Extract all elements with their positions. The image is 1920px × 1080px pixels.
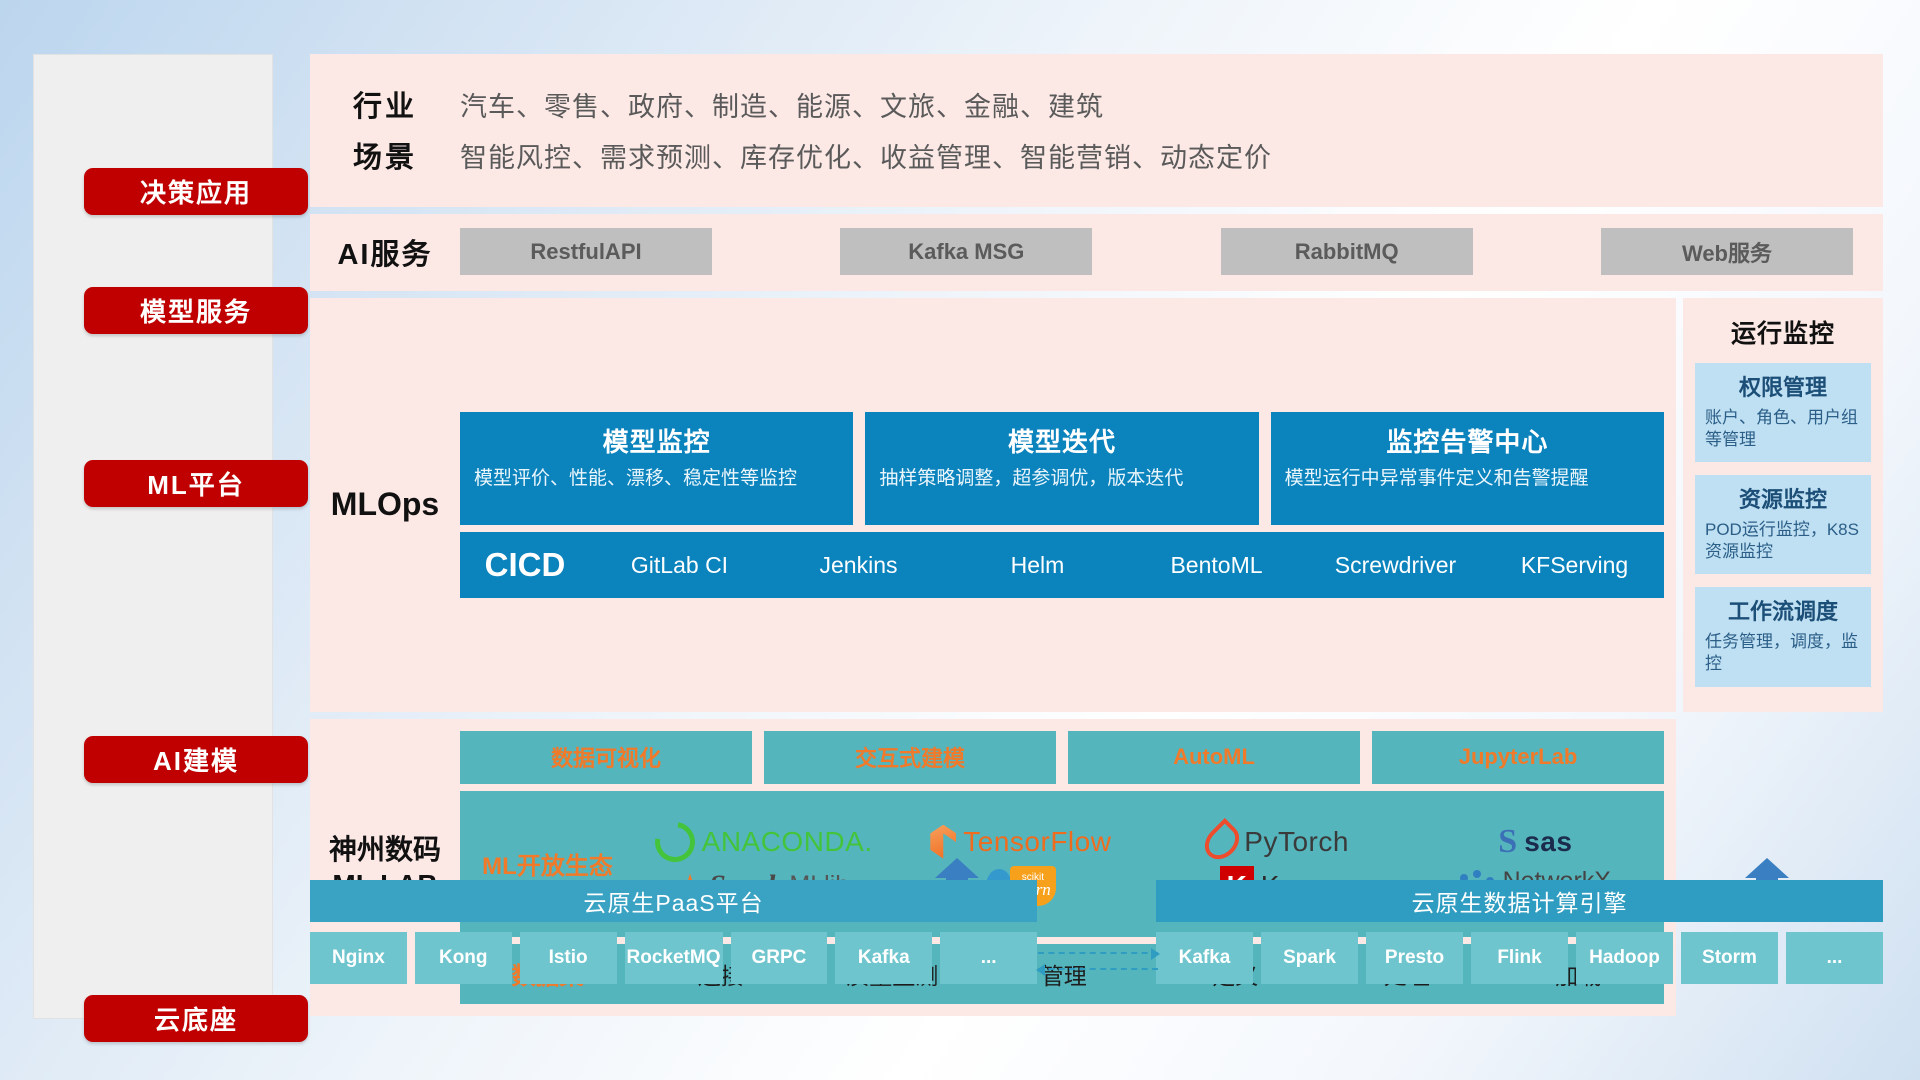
scenario-key: 场景 xyxy=(310,134,460,176)
cloud-chip-more-right[interactable]: ... xyxy=(1786,932,1883,984)
tensorflow-logo: TensorFlow xyxy=(930,825,1111,859)
mlops-card-desc: 抽样策略调整，超参调优，版本迭代 xyxy=(879,467,1244,491)
anaconda-ring-icon xyxy=(647,814,703,870)
monitor-card-desc: POD运行监控，K8S资源监控 xyxy=(1705,519,1861,563)
cicd-tool-kfserving[interactable]: KFServing xyxy=(1485,548,1664,582)
mlops-key: MLOps xyxy=(310,486,460,523)
ai-service-chip-restfulapi[interactable]: RestfulAPI xyxy=(460,228,712,275)
ml-lab-key-line1: 神州数码 xyxy=(310,832,460,867)
rail-item-cloud-base[interactable]: 云底座 xyxy=(84,995,308,1042)
rail-label: 决策应用 xyxy=(140,173,252,210)
mlops-card-model-iteration[interactable]: 模型迭代 抽样策略调整，超参调优，版本迭代 xyxy=(865,412,1258,525)
mlops-row: MLOps 模型监控 模型评价、性能、漂移、稳定性等监控 模型迭代 抽样策略调整… xyxy=(310,298,1883,712)
architecture-diagram: 决策应用 模型服务 ML平台 AI建模 云底座 行业 汽车、零售、政府、制造、能… xyxy=(0,0,1920,1080)
cicd-bar: CICD GitLab CI Jenkins Helm BentoML Scre… xyxy=(460,532,1664,598)
mlops-content: 模型监控 模型评价、性能、漂移、稳定性等监控 模型迭代 抽样策略调整，超参调优，… xyxy=(460,412,1676,598)
sas-label: sas xyxy=(1524,826,1572,858)
scenario-line: 场景 智能风控、需求预测、库存优化、收益管理、智能营销、动态定价 xyxy=(310,134,1883,176)
ml-lab-tab-data-visualization[interactable]: 数据可视化 xyxy=(460,731,752,784)
mlops-card-title: 模型迭代 xyxy=(879,422,1244,459)
cloud-data-engine-chip-list: Kafka Spark Presto Flink Hadoop Storm ..… xyxy=(1156,932,1883,984)
ai-service-chip-web[interactable]: Web服务 xyxy=(1601,228,1853,275)
dashed-arrow-right xyxy=(1038,952,1158,954)
cicd-title: CICD xyxy=(460,546,590,584)
monitor-card-title: 资源监控 xyxy=(1705,482,1861,514)
main-column: 行业 汽车、零售、政府、制造、能源、文旅、金融、建筑 场景 智能风控、需求预测、… xyxy=(310,54,1883,1016)
cloud-right-group: 云原生数据计算引擎 Kafka Spark Presto Flink Hadoo… xyxy=(1156,880,1883,984)
cloud-chip-storm[interactable]: Storm xyxy=(1681,932,1778,984)
cicd-tool-list: GitLab CI Jenkins Helm BentoML Screwdriv… xyxy=(590,548,1664,582)
cicd-tool-bentoml[interactable]: BentoML xyxy=(1127,548,1306,582)
cicd-tool-gitlab-ci[interactable]: GitLab CI xyxy=(590,548,769,582)
cicd-tool-helm[interactable]: Helm xyxy=(948,548,1127,582)
left-rail: 决策应用 模型服务 ML平台 AI建模 云底座 xyxy=(33,54,273,1019)
rail-label: 云底座 xyxy=(154,1000,238,1037)
cloud-paas-title: 云原生PaaS平台 xyxy=(310,880,1037,922)
mlops-card-model-monitor[interactable]: 模型监控 模型评价、性能、漂移、稳定性等监控 xyxy=(460,412,853,525)
cloud-link-arrows xyxy=(1038,938,1158,984)
monitor-card-desc: 账户、角色、用户组等管理 xyxy=(1705,407,1861,451)
rail-label: AI建模 xyxy=(153,741,239,778)
ml-ecosystem-label: ML开放生态 xyxy=(460,846,635,881)
mlops-card-desc: 模型评价、性能、漂移、稳定性等监控 xyxy=(474,467,839,491)
cloud-chip-rocketmq[interactable]: RocketMQ xyxy=(625,932,723,984)
runtime-monitor-title: 运行监控 xyxy=(1695,314,1871,350)
mlops-card-desc: 模型运行中异常事件定义和告警提醒 xyxy=(1285,467,1650,491)
cicd-tool-screwdriver[interactable]: Screwdriver xyxy=(1306,548,1485,582)
cloud-chip-hadoop[interactable]: Hadoop xyxy=(1576,932,1673,984)
mlops-card-title: 监控告警中心 xyxy=(1285,422,1650,459)
cloud-chip-nginx[interactable]: Nginx xyxy=(310,932,407,984)
rail-item-model-service[interactable]: 模型服务 xyxy=(84,287,308,334)
ai-service-chip-list: RestfulAPI Kafka MSG RabbitMQ Web服务 xyxy=(460,228,1883,275)
monitor-card-resource[interactable]: 资源监控 POD运行监控，K8S资源监控 xyxy=(1695,475,1871,574)
anaconda-label: ANACONDA. xyxy=(702,826,873,858)
mlops-card-alert-center[interactable]: 监控告警中心 模型运行中异常事件定义和告警提醒 xyxy=(1271,412,1664,525)
cloud-left-group: 云原生PaaS平台 Nginx Kong Istio RocketMQ GRPC… xyxy=(310,880,1037,984)
rail-item-decision-app[interactable]: 决策应用 xyxy=(84,168,308,215)
runtime-monitor-column: 运行监控 权限管理 账户、角色、用户组等管理 资源监控 POD运行监控，K8S资… xyxy=(1683,298,1883,712)
cloud-data-engine-title: 云原生数据计算引擎 xyxy=(1156,880,1883,922)
ai-service-key: AI服务 xyxy=(310,231,460,273)
rail-item-ai-modeling[interactable]: AI建模 xyxy=(84,736,308,783)
industry-line: 行业 汽车、零售、政府、制造、能源、文旅、金融、建筑 xyxy=(310,83,1883,125)
mlops-card-title: 模型监控 xyxy=(474,422,839,459)
monitor-card-desc: 任务管理，调度，监控 xyxy=(1705,631,1861,675)
cloud-chip-more-left[interactable]: ... xyxy=(940,932,1037,984)
cloud-chip-kafka[interactable]: Kafka xyxy=(835,932,932,984)
ml-lab-tab-list: 数据可视化 交互式建模 AutoML JupyterLab xyxy=(460,731,1664,784)
ai-service-band: AI服务 RestfulAPI Kafka MSG RabbitMQ Web服务 xyxy=(310,214,1883,291)
ml-lab-tab-jupyterlab[interactable]: JupyterLab xyxy=(1372,731,1664,784)
pytorch-logo: PyTorch xyxy=(1207,823,1349,861)
sas-swirl-icon: S xyxy=(1498,823,1517,861)
sas-logo: S sas xyxy=(1498,823,1572,861)
ml-lab-tab-automl[interactable]: AutoML xyxy=(1068,731,1360,784)
cloud-chip-flink[interactable]: Flink xyxy=(1471,932,1568,984)
ai-service-chip-rabbitmq[interactable]: RabbitMQ xyxy=(1221,228,1473,275)
scenario-value: 智能风控、需求预测、库存优化、收益管理、智能营销、动态定价 xyxy=(460,136,1272,175)
monitor-card-workflow[interactable]: 工作流调度 任务管理，调度，监控 xyxy=(1695,587,1871,686)
anaconda-logo: ANACONDA. xyxy=(655,822,873,862)
pytorch-flame-icon xyxy=(1198,818,1246,866)
cloud-chip-kafka-right[interactable]: Kafka xyxy=(1156,932,1253,984)
rail-label: ML平台 xyxy=(147,465,245,502)
pytorch-label: PyTorch xyxy=(1244,826,1349,858)
industry-key: 行业 xyxy=(310,83,460,125)
monitor-card-permission[interactable]: 权限管理 账户、角色、用户组等管理 xyxy=(1695,363,1871,462)
ml-lab-tab-interactive-modeling[interactable]: 交互式建模 xyxy=(764,731,1056,784)
industry-scenario-band: 行业 汽车、零售、政府、制造、能源、文旅、金融、建筑 场景 智能风控、需求预测、… xyxy=(310,54,1883,207)
industry-value: 汽车、零售、政府、制造、能源、文旅、金融、建筑 xyxy=(460,85,1104,124)
ai-service-chip-kafka-msg[interactable]: Kafka MSG xyxy=(840,228,1092,275)
tensorflow-label: TensorFlow xyxy=(963,826,1111,858)
monitor-card-title: 权限管理 xyxy=(1705,370,1861,402)
rail-label: 模型服务 xyxy=(140,292,252,329)
cloud-chip-spark[interactable]: Spark xyxy=(1261,932,1358,984)
rail-item-ml-platform[interactable]: ML平台 xyxy=(84,460,308,507)
cicd-tool-jenkins[interactable]: Jenkins xyxy=(769,548,948,582)
cloud-paas-chip-list: Nginx Kong Istio RocketMQ GRPC Kafka ... xyxy=(310,932,1037,984)
cloud-chip-presto[interactable]: Presto xyxy=(1366,932,1463,984)
dashed-arrow-left xyxy=(1038,968,1158,970)
monitor-card-title: 工作流调度 xyxy=(1705,594,1861,626)
mlops-card-list: 模型监控 模型评价、性能、漂移、稳定性等监控 模型迭代 抽样策略调整，超参调优，… xyxy=(460,412,1664,525)
cloud-chip-kong[interactable]: Kong xyxy=(415,932,512,984)
cloud-chip-grpc[interactable]: GRPC xyxy=(731,932,828,984)
tensorflow-mark-icon xyxy=(930,825,956,859)
cloud-chip-istio[interactable]: Istio xyxy=(520,932,617,984)
mlops-band: MLOps 模型监控 模型评价、性能、漂移、稳定性等监控 模型迭代 抽样策略调整… xyxy=(310,298,1676,712)
